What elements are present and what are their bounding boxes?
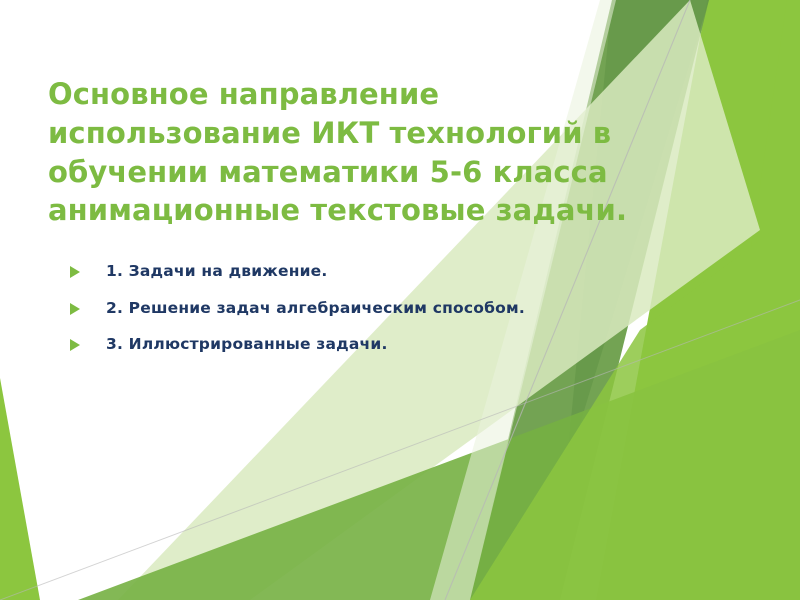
list-item-label: 2. Решение задач алгебраическим способом…	[106, 299, 525, 318]
slide-title: Основное направление использование ИКТ т…	[48, 75, 678, 229]
triangle-right-icon	[70, 302, 82, 316]
triangle-right-icon	[70, 338, 82, 352]
slide-canvas: Основное направление использование ИКТ т…	[0, 0, 800, 600]
list-item[interactable]: 3. Иллюстрированные задачи.	[70, 335, 710, 354]
slide-content: Основное направление использование ИКТ т…	[0, 0, 800, 600]
bullet-list: 1. Задачи на движение. 2. Решение задач …	[70, 262, 710, 372]
list-item[interactable]: 1. Задачи на движение.	[70, 262, 710, 281]
list-item-label: 3. Иллюстрированные задачи.	[106, 335, 388, 354]
triangle-right-icon	[70, 265, 82, 279]
list-item[interactable]: 2. Решение задач алгебраическим способом…	[70, 299, 710, 318]
list-item-label: 1. Задачи на движение.	[106, 262, 327, 281]
